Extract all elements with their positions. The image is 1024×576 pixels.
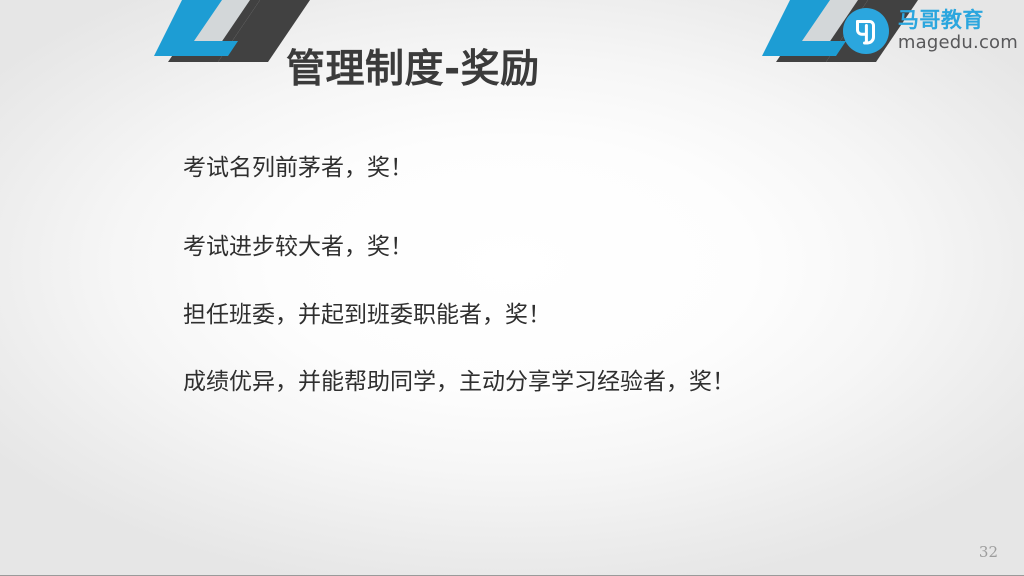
page-number: 32 (979, 543, 998, 561)
magedu-circle-logo-icon (841, 6, 891, 56)
slide-canvas: 马哥教育 magedu.com 管理制度-奖励 考试名列前茅者，奖！ 考试进步较… (0, 0, 1024, 576)
body-content: 考试名列前茅者，奖！ 考试进步较大者，奖！ 担任班委，并起到班委职能者，奖！ 成… (183, 148, 973, 396)
brand-name-cn: 马哥教育 (898, 10, 1018, 31)
brand-text: 马哥教育 magedu.com (898, 10, 1018, 52)
brand-name-en: magedu.com (898, 34, 1018, 52)
body-line: 考试名列前茅者，奖！ (183, 148, 973, 182)
body-line: 成绩优异，并能帮助同学，主动分享学习经验者，奖！ (183, 362, 973, 396)
slide-title: 管理制度-奖励 (286, 48, 540, 93)
body-line: 考试进步较大者，奖！ (183, 227, 973, 261)
body-line: 担任班委，并起到班委职能者，奖！ (183, 295, 973, 329)
brand-logo: 马哥教育 magedu.com (841, 6, 1018, 56)
